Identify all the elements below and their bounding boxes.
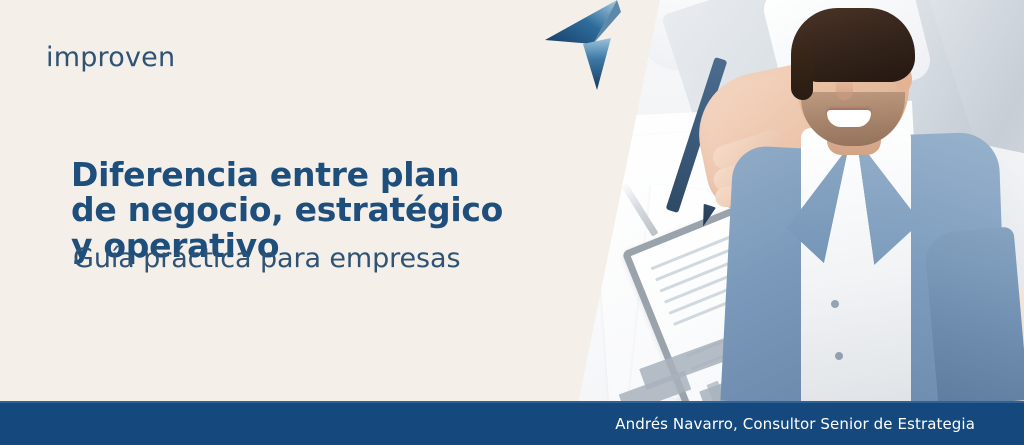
improven-logo[interactable]: improven	[46, 42, 175, 73]
footer-bar: Andrés Navarro, Consultor Senior de Estr…	[0, 401, 1024, 445]
jacket-button	[831, 300, 839, 308]
dress-shirt	[801, 128, 911, 404]
hero-banner: improven Diferencia entre plan de negoci…	[0, 0, 1024, 445]
arrow-mark-icon	[543, 0, 635, 94]
jacket-sleeve	[924, 226, 1024, 404]
person-portrait	[735, 0, 1024, 404]
smile	[827, 110, 871, 127]
hair	[791, 46, 813, 100]
jacket-button	[835, 352, 843, 360]
page-subtitle: Guía práctica para empresas	[73, 243, 460, 274]
author-credit: Andrés Navarro, Consultor Senior de Estr…	[615, 415, 975, 433]
